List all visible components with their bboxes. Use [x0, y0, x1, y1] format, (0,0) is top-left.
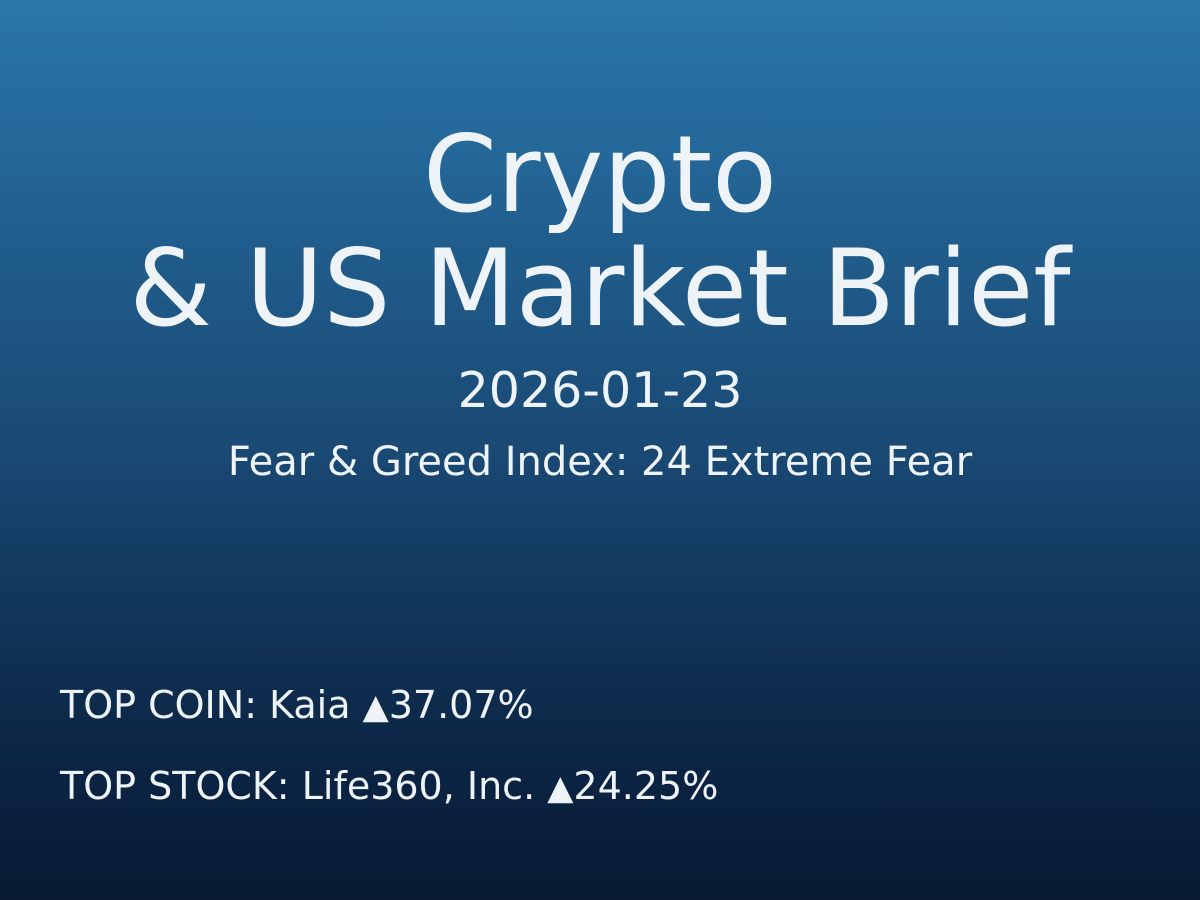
fear-greed-index: Fear & Greed Index: 24 Extreme Fear — [0, 438, 1200, 486]
headline-line-2: & US Market Brief — [0, 232, 1200, 346]
top-stock-name: Life360, Inc. — [302, 764, 535, 808]
top-coin-change: 37.07% — [389, 683, 534, 727]
top-coin-label: TOP COIN: — [60, 683, 257, 727]
top-stock-row: TOP STOCK: Life360, Inc. ▲24.25% — [60, 763, 1140, 811]
top-coin-name: Kaia — [269, 683, 350, 727]
top-stock-label: TOP STOCK: — [60, 764, 290, 808]
top-stock-change: 24.25% — [573, 764, 718, 808]
triangle-up-icon: ▲ — [547, 768, 573, 808]
highlights-block: TOP COIN: Kaia ▲37.07% TOP STOCK: Life36… — [60, 682, 1140, 811]
headline-line-1: Crypto — [0, 118, 1200, 232]
slide-root: Crypto & US Market Brief 2026-01-23 Fear… — [0, 0, 1200, 900]
triangle-up-icon: ▲ — [363, 687, 389, 727]
top-coin-row: TOP COIN: Kaia ▲37.07% — [60, 682, 1140, 730]
report-date: 2026-01-23 — [0, 363, 1200, 419]
headline-block: Crypto & US Market Brief — [0, 118, 1200, 346]
